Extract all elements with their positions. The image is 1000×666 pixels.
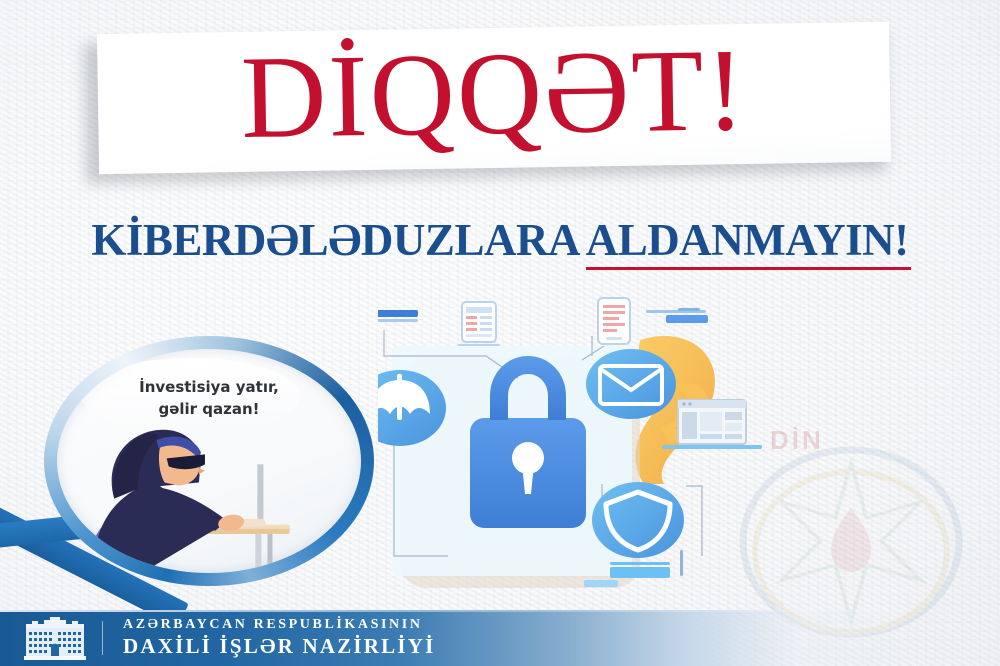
page-title: DİQQƏT! <box>240 31 747 157</box>
footer-divider-line <box>0 610 1000 612</box>
footer-line-1: AZƏRBAYCAN RESPUBLİKASININ <box>123 617 435 633</box>
subtitle-plain: KİBERDƏLƏDUZLARA <box>91 215 585 265</box>
poster-root: DİN DİQQƏT! KİBERDƏLƏDUZLARA ALDANMAYIN!… <box>0 0 1000 666</box>
document-icon <box>458 302 500 346</box>
scammer-illustration <box>57 412 361 573</box>
headline-banner: DİQQƏT! <box>97 22 891 174</box>
decor-bar-top-left <box>378 310 418 322</box>
envelope-icon <box>586 349 676 419</box>
shield-icon <box>592 482 684 558</box>
subtitle-underlined: ALDANMAYIN! <box>586 215 909 267</box>
ministry-building-icon <box>24 616 86 660</box>
document-icon <box>598 298 630 344</box>
footer-line-2: DAXİLİ İŞLƏR NAZİRLİYİ <box>123 634 435 659</box>
decor-bar-top-right <box>646 308 708 323</box>
subtitle: KİBERDƏLƏDUZLARA ALDANMAYIN! <box>0 214 1000 266</box>
footer-separator <box>102 621 103 655</box>
scam-caption-line-1: İnvestisiya yatır, <box>57 377 361 399</box>
footer-text: AZƏRBAYCAN RESPUBLİKASININ DAXİLİ İŞLƏR … <box>123 617 435 659</box>
magnifier-lens: İnvestisiya yatır, gəlir qazan! <box>57 349 361 573</box>
footer-bar: AZƏRBAYCAN RESPUBLİKASININ DAXİLİ İŞLƏR … <box>0 610 1000 666</box>
magnifying-glass-icon: İnvestisiya yatır, gəlir qazan! <box>18 330 398 620</box>
magnifier-ring: İnvestisiya yatır, gəlir qazan! <box>44 336 374 586</box>
cybersecurity-illustration <box>378 288 798 614</box>
